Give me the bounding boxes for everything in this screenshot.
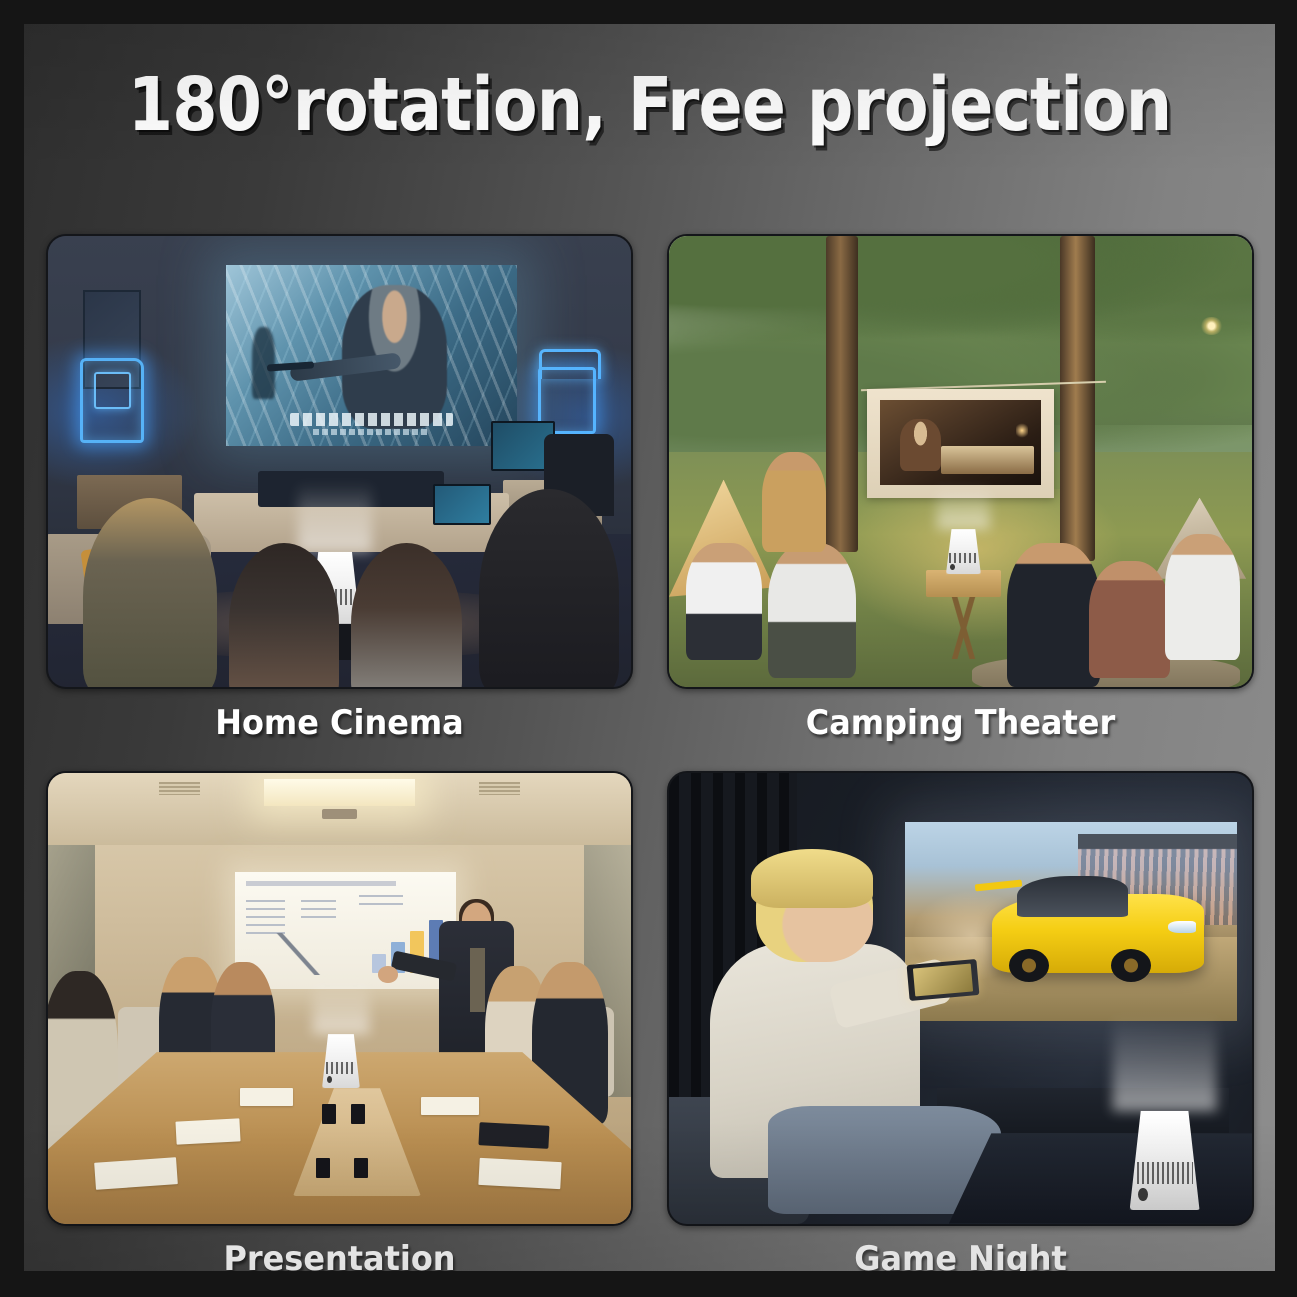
presenter-tie <box>470 948 485 1011</box>
movie-title-text <box>290 413 453 426</box>
camping-theater-image[interactable] <box>667 234 1254 689</box>
projected-film-image <box>880 400 1040 484</box>
background-figure <box>252 327 275 399</box>
presenter-hand <box>378 966 398 982</box>
projector-beam <box>313 969 370 1034</box>
tablet-device <box>479 1122 550 1148</box>
caption-game-night: Game Night <box>685 1226 1237 1272</box>
car-cabin <box>1017 876 1128 917</box>
caption-camping-theater: Camping Theater <box>685 689 1237 753</box>
projector-grille <box>326 1062 356 1074</box>
tree-canopy <box>669 234 1252 344</box>
caption-home-cinema: Home Cinema <box>64 689 616 753</box>
projector-device <box>1130 1111 1200 1210</box>
camping-theater-scene <box>669 236 1252 687</box>
viewer-3 <box>762 452 826 551</box>
table-port-3 <box>316 1158 330 1178</box>
viewer-6 <box>1165 534 1241 660</box>
air-vent-right <box>479 782 520 796</box>
viewer-head-3 <box>351 543 462 689</box>
home-cinema-scene <box>48 236 631 687</box>
poster-root: 180°rotation, Free projection <box>0 0 1297 1297</box>
caption-presentation: Presentation <box>64 1226 616 1272</box>
notepad-5 <box>421 1097 479 1115</box>
viewer-4 <box>1007 543 1100 687</box>
smartphone-device <box>907 959 980 1001</box>
projector-grille <box>1137 1162 1193 1184</box>
movie-subtitle-text <box>313 429 430 435</box>
gamer-hair <box>751 849 873 908</box>
projector-beam <box>937 475 989 529</box>
car-headlight <box>1168 921 1196 934</box>
slide-text-block-2 <box>301 900 336 919</box>
viewer-5 <box>1089 561 1171 678</box>
neon-hand-sign-icon <box>80 358 144 444</box>
notepad-2 <box>176 1118 241 1144</box>
table-port-2 <box>351 1104 365 1124</box>
viewer-1 <box>686 543 762 660</box>
projector-grille <box>949 553 977 563</box>
viewer-head-1 <box>83 498 217 689</box>
projector-beam <box>1112 992 1217 1111</box>
panel-game-night[interactable]: Game Night <box>667 771 1254 1272</box>
notepad-4 <box>479 1158 562 1189</box>
viewer-head-4 <box>479 489 619 689</box>
panel-camping-theater[interactable]: Camping Theater <box>667 234 1254 753</box>
notepad-3 <box>240 1088 292 1106</box>
page-title: 180°rotation, Free projection <box>99 68 1200 142</box>
viewer-2 <box>768 543 855 678</box>
slide-text-block-1 <box>246 900 286 935</box>
coffee-table <box>949 1133 1252 1223</box>
tree-trunk-left <box>826 236 858 552</box>
presentation-scene <box>48 773 631 1224</box>
game-night-image[interactable] <box>667 771 1254 1226</box>
projector-beam <box>298 465 372 552</box>
table-port-4 <box>354 1158 368 1178</box>
projected-movie-screen <box>226 265 518 445</box>
projector-lens-icon <box>1138 1188 1148 1201</box>
projector-device <box>946 529 981 574</box>
desk-monitor-center <box>433 484 491 525</box>
panel-presentation[interactable]: Presentation <box>46 771 633 1272</box>
slide-text-block-3 <box>359 895 403 909</box>
game-night-scene <box>669 773 1252 1224</box>
scenario-grid: Home Cinema <box>46 234 1254 1271</box>
film-candle-glow <box>1016 422 1027 439</box>
table-port-1 <box>322 1104 336 1124</box>
race-car <box>992 894 1205 973</box>
panel-home-cinema[interactable]: Home Cinema <box>46 234 633 753</box>
ceiling-speaker <box>322 809 357 820</box>
projector-device <box>322 1034 360 1088</box>
poster-stage: 180°rotation, Free projection <box>24 24 1275 1271</box>
presentation-image[interactable] <box>46 771 633 1226</box>
tree-trunk-right <box>1060 236 1095 561</box>
ceiling-light <box>264 779 416 806</box>
air-vent-left <box>159 782 200 796</box>
string-light-icon <box>1200 317 1223 335</box>
slide-header-line <box>246 881 397 886</box>
home-cinema-image[interactable] <box>46 234 633 689</box>
projector-lens-icon <box>327 1076 332 1083</box>
